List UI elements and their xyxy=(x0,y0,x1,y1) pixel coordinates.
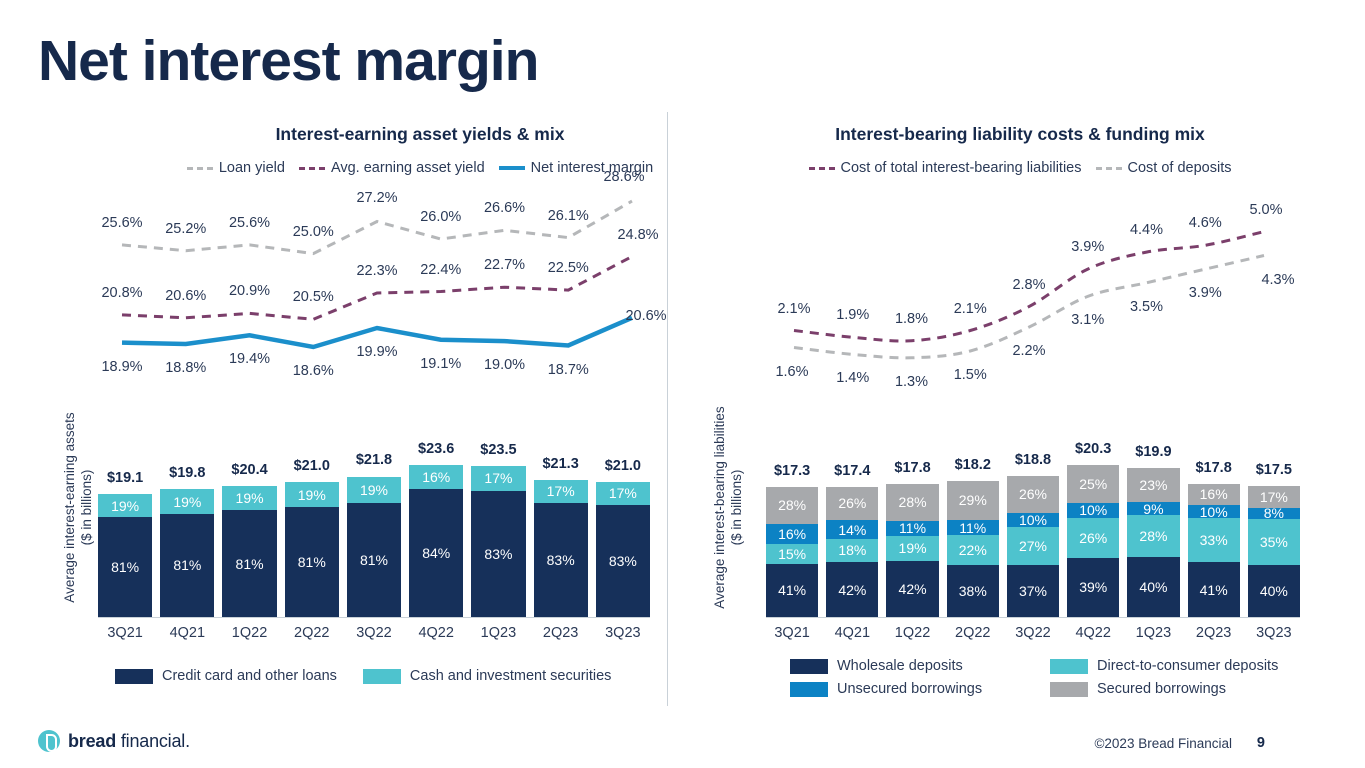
line-data-label: 1.9% xyxy=(836,307,869,323)
bar-group[interactable]: $21.017%83% xyxy=(596,452,650,617)
solid-line-icon xyxy=(499,166,525,170)
line-data-label: 18.6% xyxy=(293,363,334,379)
bar-segment: 83% xyxy=(596,505,650,617)
line-data-label: 25.2% xyxy=(165,221,206,237)
bar-segment: 41% xyxy=(766,564,818,617)
stacked-bar[interactable]: 16%10%33%41% xyxy=(1188,484,1240,618)
bar-segment: 19% xyxy=(347,477,401,504)
bar-group[interactable]: $17.828%11%19%42% xyxy=(886,452,938,617)
left-bar-xticks: 3Q214Q211Q222Q223Q224Q221Q232Q233Q23 xyxy=(98,625,650,641)
bar-legend-item: Credit card and other loans xyxy=(115,668,337,684)
bar-total-label: $17.3 xyxy=(774,463,810,479)
bar-group[interactable]: $20.419%81% xyxy=(222,452,276,617)
bar-legend-row: Unsecured borrowingsSecured borrowings xyxy=(790,681,1300,697)
stacked-bar[interactable]: 17%83% xyxy=(471,466,525,617)
line-data-label: 20.6% xyxy=(625,308,666,324)
bar-total-label: $21.0 xyxy=(605,458,641,474)
bar-segment: 81% xyxy=(285,507,339,617)
legend-color-swatch xyxy=(1050,682,1088,697)
bar-segment: 40% xyxy=(1248,565,1300,618)
bar-segment: 81% xyxy=(347,503,401,617)
bar-legend-label: Secured borrowings xyxy=(1097,681,1226,697)
line-data-label: 19.1% xyxy=(420,356,461,372)
legend-color-swatch xyxy=(115,669,153,684)
line-data-label: 2.1% xyxy=(954,301,987,317)
line-data-label: 3.5% xyxy=(1130,299,1163,315)
line-series-net-interest-margin xyxy=(122,318,632,347)
bar-x-tick: 4Q21 xyxy=(160,625,214,641)
bar-segment: 18% xyxy=(826,539,878,562)
stacked-bar[interactable]: 23%9%28%40% xyxy=(1127,468,1179,617)
line-data-label: 24.8% xyxy=(617,227,658,243)
line-data-label: 26.0% xyxy=(420,209,461,225)
line-data-label: 25.0% xyxy=(293,224,334,240)
left-bar-legend: Credit card and other loansCash and inve… xyxy=(115,668,635,684)
left-bar-axis-label-line1: Average interest-earning assets xyxy=(62,400,79,615)
line-legend-item: Loan yield xyxy=(187,160,285,176)
bar-segment: 81% xyxy=(98,517,152,617)
line-data-label: 20.5% xyxy=(293,289,334,305)
page-number: 9 xyxy=(1257,735,1265,751)
right-bar-axis-label: Average interest-bearing liabilities ($ … xyxy=(712,400,746,615)
bar-segment: 15% xyxy=(766,544,818,563)
line-legend-item: Cost of deposits xyxy=(1096,160,1232,176)
dashed-line-icon xyxy=(187,167,213,170)
line-data-label: 1.3% xyxy=(895,374,928,390)
line-data-label: 2.1% xyxy=(777,301,810,317)
bar-x-tick: 3Q22 xyxy=(347,625,401,641)
bar-segment: 29% xyxy=(947,481,999,521)
bar-segment: 26% xyxy=(826,487,878,521)
dashed-line-icon xyxy=(299,167,325,170)
line-data-label: 25.6% xyxy=(229,215,270,231)
bar-group[interactable]: $21.019%81% xyxy=(285,452,339,617)
stacked-bar[interactable]: 26%10%27%37% xyxy=(1007,476,1059,617)
bar-group[interactable]: $17.328%16%15%41% xyxy=(766,452,818,617)
line-data-label: 4.3% xyxy=(1261,272,1294,288)
bar-segment: 83% xyxy=(534,503,588,617)
bar-total-label: $21.3 xyxy=(542,456,578,472)
right-bar-xticks: 3Q214Q211Q222Q223Q224Q221Q232Q233Q23 xyxy=(766,625,1300,641)
bar-group[interactable]: $18.826%10%27%37% xyxy=(1007,452,1059,617)
bar-group[interactable]: $21.819%81% xyxy=(347,452,401,617)
right-bar-axis-label-line2: ($ in billions) xyxy=(729,400,746,615)
stacked-bar[interactable]: 17%8%35%40% xyxy=(1248,486,1300,617)
line-data-label: 4.4% xyxy=(1130,222,1163,238)
bar-segment: 28% xyxy=(1127,515,1179,557)
bar-x-tick: 2Q22 xyxy=(947,625,999,641)
bar-x-tick: 1Q22 xyxy=(222,625,276,641)
bar-legend-row: Wholesale depositsDirect-to-consumer dep… xyxy=(790,658,1300,674)
stacked-bar[interactable]: 19%81% xyxy=(160,489,214,617)
bar-legend-item: Cash and investment securities xyxy=(363,668,612,684)
line-data-label: 1.8% xyxy=(895,311,928,327)
slide-root: Net interest margin Interest-earning ass… xyxy=(0,0,1365,768)
bar-x-tick: 2Q23 xyxy=(534,625,588,641)
bar-segment: 33% xyxy=(1188,518,1240,562)
legend-color-swatch xyxy=(790,659,828,674)
bar-x-tick: 1Q23 xyxy=(471,625,525,641)
stacked-bar[interactable]: 28%16%15%41% xyxy=(766,487,818,617)
bar-segment: 84% xyxy=(409,489,463,617)
bar-x-tick: 4Q22 xyxy=(409,625,463,641)
bar-segment: 16% xyxy=(766,524,818,545)
bar-group[interactable]: $21.317%83% xyxy=(534,452,588,617)
bar-segment: 35% xyxy=(1248,519,1300,565)
stacked-bar[interactable]: 28%11%19%42% xyxy=(886,484,938,618)
bar-group[interactable]: $19.923%9%28%40% xyxy=(1127,452,1179,617)
line-data-label: 20.9% xyxy=(229,283,270,299)
right-bar-axis-label-line1: Average interest-bearing liabilities xyxy=(712,400,729,615)
bar-legend-item: Direct-to-consumer deposits xyxy=(1050,658,1278,674)
bar-legend-cell: Wholesale deposits xyxy=(790,658,1050,674)
bread-financial-logo: bread financial. xyxy=(38,730,190,752)
bar-legend-cell: Unsecured borrowings xyxy=(790,681,1050,697)
bar-segment: 81% xyxy=(160,514,214,617)
bar-x-tick: 4Q21 xyxy=(826,625,878,641)
line-data-label: 19.0% xyxy=(484,357,525,373)
bar-x-tick: 1Q22 xyxy=(886,625,938,641)
bar-segment: 16% xyxy=(409,465,463,489)
bar-segment: 19% xyxy=(886,536,938,561)
bar-total-label: $19.1 xyxy=(107,470,143,486)
bar-group[interactable]: $19.119%81% xyxy=(98,452,152,617)
copyright-text: ©2023 Bread Financial xyxy=(1094,736,1232,751)
line-data-label: 27.2% xyxy=(356,190,397,206)
bar-x-tick: 3Q23 xyxy=(1248,625,1300,641)
bar-total-label: $21.0 xyxy=(294,458,330,474)
bar-total-label: $20.4 xyxy=(231,462,267,478)
bar-total-label: $23.6 xyxy=(418,441,454,457)
bar-segment: 17% xyxy=(596,482,650,505)
bar-segment: 38% xyxy=(947,565,999,617)
bar-group[interactable]: $18.229%11%22%38% xyxy=(947,452,999,617)
bar-group[interactable]: $17.517%8%35%40% xyxy=(1248,452,1300,617)
bar-group[interactable]: $20.325%10%26%39% xyxy=(1067,452,1119,617)
bar-group[interactable]: $17.816%10%33%41% xyxy=(1188,452,1240,617)
page-title: Net interest margin xyxy=(38,28,538,94)
bar-segment: 26% xyxy=(1007,476,1059,513)
line-legend-label: Loan yield xyxy=(219,160,285,176)
left-bar-chart: $19.119%81%$19.819%81%$20.419%81%$21.019… xyxy=(98,452,650,617)
stacked-bar[interactable]: 17%83% xyxy=(596,482,650,617)
stacked-bar[interactable]: 19%81% xyxy=(98,494,152,617)
bar-total-label: $18.8 xyxy=(1015,452,1051,468)
logo-brand-light: financial. xyxy=(121,731,190,751)
line-data-label: 22.3% xyxy=(356,263,397,279)
line-data-label: 18.9% xyxy=(101,359,142,375)
left-line-chart: 25.6%25.2%25.6%25.0%27.2%26.0%26.6%26.1%… xyxy=(100,188,660,363)
stacked-bar[interactable]: 19%81% xyxy=(222,486,276,617)
left-bar-axis-label-line2: ($ in billions) xyxy=(79,400,96,615)
line-data-label: 25.6% xyxy=(101,215,142,231)
bar-segment: 23% xyxy=(1127,468,1179,502)
line-data-label: 26.6% xyxy=(484,200,525,216)
right-bar-chart: $17.328%16%15%41%$17.426%14%18%42%$17.82… xyxy=(766,452,1300,617)
bar-segment: 27% xyxy=(1007,527,1059,565)
line-legend-item: Avg. earning asset yield xyxy=(299,160,485,176)
logo-wordmark: bread financial. xyxy=(68,731,190,752)
bar-group[interactable]: $23.517%83% xyxy=(471,452,525,617)
right-line-legend: Cost of total interest-bearing liabiliti… xyxy=(740,160,1300,176)
panel-divider xyxy=(667,112,668,706)
left-bar-axis-label: Average interest-earning assets ($ in bi… xyxy=(62,400,96,615)
bar-x-tick: 4Q22 xyxy=(1067,625,1119,641)
line-data-label: 18.8% xyxy=(165,360,206,376)
bar-total-label: $17.8 xyxy=(1195,460,1231,476)
bar-total-label: $19.9 xyxy=(1135,444,1171,460)
bar-segment: 11% xyxy=(947,520,999,535)
legend-color-swatch xyxy=(790,682,828,697)
bar-legend-cell: Direct-to-consumer deposits xyxy=(1050,658,1278,674)
bar-segment: 11% xyxy=(886,521,938,536)
line-data-label: 1.4% xyxy=(836,370,869,386)
line-data-label: 22.5% xyxy=(548,260,589,276)
stacked-bar[interactable]: 25%10%26%39% xyxy=(1067,465,1119,617)
line-data-label: 3.9% xyxy=(1071,239,1104,255)
line-data-label: 5.0% xyxy=(1249,202,1282,218)
bar-legend-item: Wholesale deposits xyxy=(790,658,1050,674)
bar-x-tick: 1Q23 xyxy=(1127,625,1179,641)
bar-x-tick: 3Q23 xyxy=(596,625,650,641)
stacked-bar[interactable]: 29%11%22%38% xyxy=(947,481,999,618)
line-legend-label: Cost of total interest-bearing liabiliti… xyxy=(841,160,1082,176)
line-data-label: 18.7% xyxy=(548,362,589,378)
bar-segment: 25% xyxy=(1067,465,1119,503)
bar-total-label: $17.5 xyxy=(1256,462,1292,478)
bar-legend-label: Direct-to-consumer deposits xyxy=(1097,658,1278,674)
bar-group[interactable]: $23.616%84% xyxy=(409,452,463,617)
bar-legend-item: Secured borrowings xyxy=(1050,681,1226,697)
line-data-label: 22.4% xyxy=(420,262,461,278)
legend-color-swatch xyxy=(363,669,401,684)
bar-total-label: $20.3 xyxy=(1075,441,1111,457)
bar-segment: 19% xyxy=(98,494,152,517)
line-data-label: 19.4% xyxy=(229,351,270,367)
logo-brand-bold: bread xyxy=(68,731,116,751)
bar-total-label: $18.2 xyxy=(955,457,991,473)
bar-x-tick: 2Q22 xyxy=(285,625,339,641)
line-data-label: 2.8% xyxy=(1012,277,1045,293)
bar-segment: 83% xyxy=(471,491,525,617)
bar-segment: 26% xyxy=(1067,518,1119,558)
bar-x-tick: 3Q22 xyxy=(1007,625,1059,641)
bar-segment: 10% xyxy=(1007,513,1059,527)
line-data-label: 22.7% xyxy=(484,257,525,273)
line-data-label: 2.2% xyxy=(1012,343,1045,359)
bar-segment: 28% xyxy=(886,484,938,521)
bar-x-tick: 3Q21 xyxy=(98,625,152,641)
dashed-line-icon xyxy=(1096,167,1122,170)
bar-segment: 10% xyxy=(1188,505,1240,518)
line-data-label: 26.1% xyxy=(548,208,589,224)
bar-segment: 19% xyxy=(222,486,276,511)
bar-x-tick: 2Q23 xyxy=(1188,625,1240,641)
bar-segment: 10% xyxy=(1067,503,1119,518)
bread-logo-mark-icon xyxy=(38,730,60,752)
line-data-label: 1.6% xyxy=(775,364,808,380)
bar-segment: 8% xyxy=(1248,508,1300,519)
stacked-bar[interactable]: 19%81% xyxy=(285,482,339,617)
bar-segment: 16% xyxy=(1188,484,1240,505)
line-data-label: 3.9% xyxy=(1189,285,1222,301)
bar-group[interactable]: $19.819%81% xyxy=(160,452,214,617)
bar-segment: 28% xyxy=(766,487,818,523)
right-panel-title: Interest-bearing liability costs & fundi… xyxy=(740,124,1300,145)
bar-segment: 19% xyxy=(160,489,214,513)
bar-total-label: $17.4 xyxy=(834,463,870,479)
right-bar-baseline xyxy=(766,617,1300,618)
bar-segment: 42% xyxy=(826,562,878,617)
bar-total-label: $21.8 xyxy=(356,452,392,468)
bar-total-label: $19.8 xyxy=(169,465,205,481)
right-bar-legend: Wholesale depositsDirect-to-consumer dep… xyxy=(790,658,1300,704)
bar-segment: 81% xyxy=(222,510,276,617)
bar-legend-label: Cash and investment securities xyxy=(410,668,612,684)
bar-segment: 17% xyxy=(471,466,525,492)
line-data-label: 1.5% xyxy=(954,367,987,383)
line-data-label: 4.6% xyxy=(1189,215,1222,231)
bar-segment: 17% xyxy=(534,480,588,503)
bar-legend-cell: Secured borrowings xyxy=(1050,681,1226,697)
stacked-bar[interactable]: 16%84% xyxy=(409,465,463,617)
line-legend-item: Cost of total interest-bearing liabiliti… xyxy=(809,160,1082,176)
bar-legend-item: Unsecured borrowings xyxy=(790,681,1050,697)
bar-x-tick: 3Q21 xyxy=(766,625,818,641)
bar-segment: 41% xyxy=(1188,562,1240,617)
line-data-label: 20.6% xyxy=(165,288,206,304)
bar-segment: 40% xyxy=(1127,557,1179,617)
left-panel-title: Interest-earning asset yields & mix xyxy=(150,124,690,145)
legend-color-swatch xyxy=(1050,659,1088,674)
stacked-bar[interactable]: 17%83% xyxy=(534,480,588,617)
bar-legend-label: Credit card and other loans xyxy=(162,668,337,684)
bar-segment: 14% xyxy=(826,520,878,538)
bar-segment: 37% xyxy=(1007,565,1059,617)
bar-legend-row: Credit card and other loansCash and inve… xyxy=(115,668,635,684)
line-data-label: 28.6% xyxy=(603,169,644,185)
bar-segment: 9% xyxy=(1127,502,1179,515)
right-line-chart: 2.1%1.9%1.8%2.1%2.8%3.9%4.4%4.6%5.0%1.6%… xyxy=(770,218,1290,368)
bar-row: $19.119%81%$19.819%81%$20.419%81%$21.019… xyxy=(98,452,650,617)
bar-total-label: $17.8 xyxy=(894,460,930,476)
dashed-line-icon xyxy=(809,167,835,170)
bar-total-label: $23.5 xyxy=(480,442,516,458)
bar-group[interactable]: $17.426%14%18%42% xyxy=(826,452,878,617)
stacked-bar[interactable]: 26%14%18%42% xyxy=(826,487,878,618)
line-data-label: 19.9% xyxy=(356,344,397,360)
bar-row: $17.328%16%15%41%$17.426%14%18%42%$17.82… xyxy=(766,452,1300,617)
bar-legend-label: Unsecured borrowings xyxy=(837,681,982,697)
stacked-bar[interactable]: 19%81% xyxy=(347,477,401,618)
bar-legend-label: Wholesale deposits xyxy=(837,658,963,674)
bar-segment: 19% xyxy=(285,482,339,508)
line-data-label: 3.1% xyxy=(1071,312,1104,328)
left-bar-baseline xyxy=(98,617,650,618)
line-data-label: 20.8% xyxy=(101,285,142,301)
line-legend-label: Cost of deposits xyxy=(1128,160,1232,176)
bar-segment: 42% xyxy=(886,561,938,617)
bar-segment: 39% xyxy=(1067,558,1119,617)
bar-segment: 22% xyxy=(947,535,999,565)
line-legend-label: Avg. earning asset yield xyxy=(331,160,485,176)
